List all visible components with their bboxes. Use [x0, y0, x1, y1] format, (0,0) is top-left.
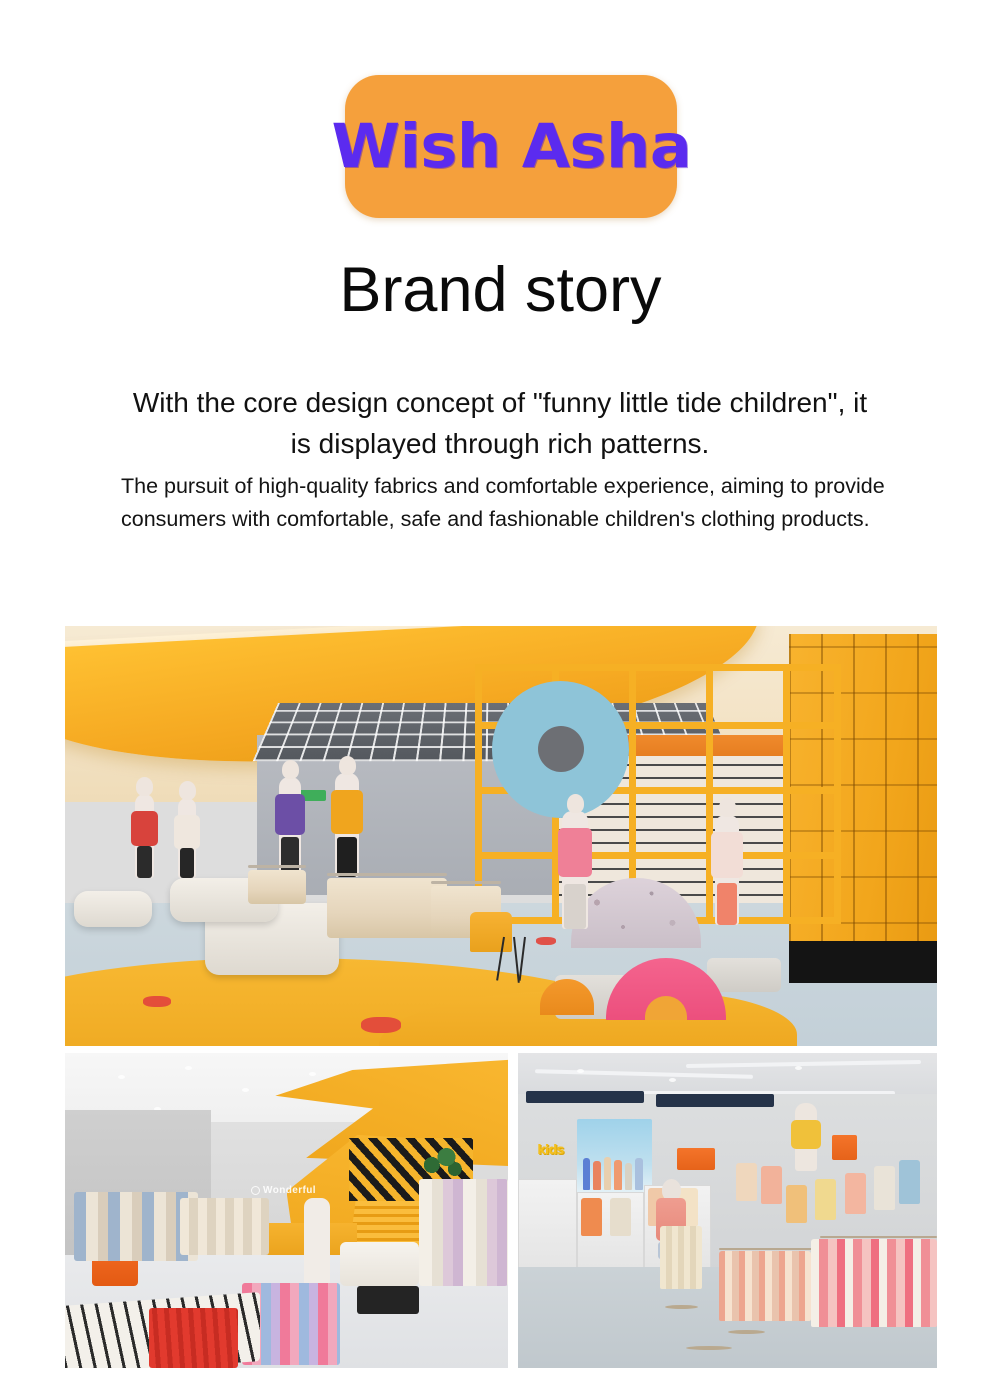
mannequin [135, 794, 154, 878]
garment [815, 1179, 836, 1220]
mannequin-bottom [180, 848, 194, 878]
mannequin-top [131, 811, 158, 846]
ceiling-spotlight-icon [242, 1088, 249, 1092]
garment [899, 1160, 920, 1204]
mannequin [335, 773, 359, 877]
mannequin-top [174, 815, 200, 849]
mannequin-pink-front [562, 811, 588, 929]
shelf-cabinet [518, 1179, 577, 1274]
poster-figure [625, 1163, 633, 1190]
mannequin-top [558, 828, 592, 878]
mannequin-top [711, 832, 743, 878]
poster-figure [604, 1157, 612, 1190]
poster-figure [593, 1161, 601, 1190]
orange-poster-sign [832, 1135, 857, 1160]
store-photo-hero [65, 626, 937, 1046]
mannequin-top [331, 790, 363, 834]
floor-decal [536, 937, 556, 945]
digital-poster-display[interactable] [577, 1119, 652, 1195]
mannequin-bottom [564, 884, 586, 929]
garment [874, 1166, 895, 1210]
ceiling-spotlight-icon [185, 1066, 192, 1070]
hero-scene [65, 626, 937, 1046]
mannequin [279, 777, 301, 873]
clothing-rack-red [149, 1308, 238, 1368]
mannequin-top [275, 794, 305, 834]
mannequin-bottom [337, 837, 357, 877]
garment [610, 1198, 631, 1236]
poster-figure [583, 1158, 591, 1190]
bl-wall-sign-label: Wonderful [263, 1185, 316, 1196]
clothing-rack [419, 1179, 508, 1286]
ring-icon [251, 1186, 260, 1195]
mannequin-head [339, 756, 356, 775]
mannequin-head [567, 794, 584, 813]
ceiling-spotlight-icon [309, 1072, 316, 1076]
mannequin [304, 1198, 330, 1290]
mannequin-head [719, 798, 736, 817]
mannequin-bottom [281, 837, 299, 873]
mannequin-head [136, 777, 153, 796]
mannequin-head [179, 781, 196, 800]
floor-decal [143, 996, 171, 1007]
bl-wall-sign: Wonderful [251, 1185, 316, 1196]
poster-figure [635, 1158, 643, 1190]
store-photo-bottom-right: kids [518, 1053, 937, 1368]
hero-wall-base-trim [789, 941, 937, 983]
yellow-chair [470, 912, 512, 952]
ceiling-spotlight-icon [795, 1066, 802, 1070]
garment [581, 1198, 602, 1236]
floor-decal [361, 1017, 401, 1033]
mannequin-pink-right [715, 815, 739, 925]
poster-figure [614, 1160, 622, 1190]
mannequin-bottom [717, 883, 737, 925]
clothing-rack [248, 870, 306, 904]
br-kids-sign: kids [524, 1141, 576, 1159]
store-photo-gallery: Wonderful [0, 0, 1001, 1393]
mannequin-bottom [137, 846, 152, 878]
display-table [340, 1242, 420, 1286]
garment-rail [820, 1236, 937, 1238]
clothing-rack [327, 878, 447, 938]
br-kids-sign-label: kids [537, 1143, 563, 1158]
br-navy-valance [656, 1094, 773, 1107]
mannequin [795, 1103, 817, 1171]
clothing-rack [180, 1198, 269, 1255]
mannequin-head [282, 760, 299, 779]
potted-plant [418, 1141, 464, 1181]
ceiling-spotlight-icon [577, 1069, 584, 1073]
display-bag [357, 1286, 419, 1314]
clothing-rack [660, 1226, 702, 1289]
garment [786, 1185, 807, 1223]
hero-blue-ring-prop [492, 681, 629, 818]
garment [736, 1163, 757, 1201]
store-photo-bottom-left: Wonderful [65, 1053, 508, 1368]
display-table [74, 891, 152, 927]
garment [761, 1166, 782, 1204]
clothing-rack [811, 1239, 937, 1327]
garment [845, 1173, 866, 1214]
rack-base [665, 1305, 699, 1309]
orange-poster-sign [677, 1148, 715, 1170]
bottom-right-scene: kids [518, 1053, 937, 1368]
clothing-rack [719, 1251, 811, 1320]
bottom-left-scene: Wonderful [65, 1053, 508, 1368]
mannequin-pedestal [707, 958, 781, 992]
br-navy-valance [526, 1091, 643, 1104]
mannequin-top [791, 1120, 821, 1149]
mannequin [178, 798, 196, 878]
rack-base [686, 1346, 732, 1350]
